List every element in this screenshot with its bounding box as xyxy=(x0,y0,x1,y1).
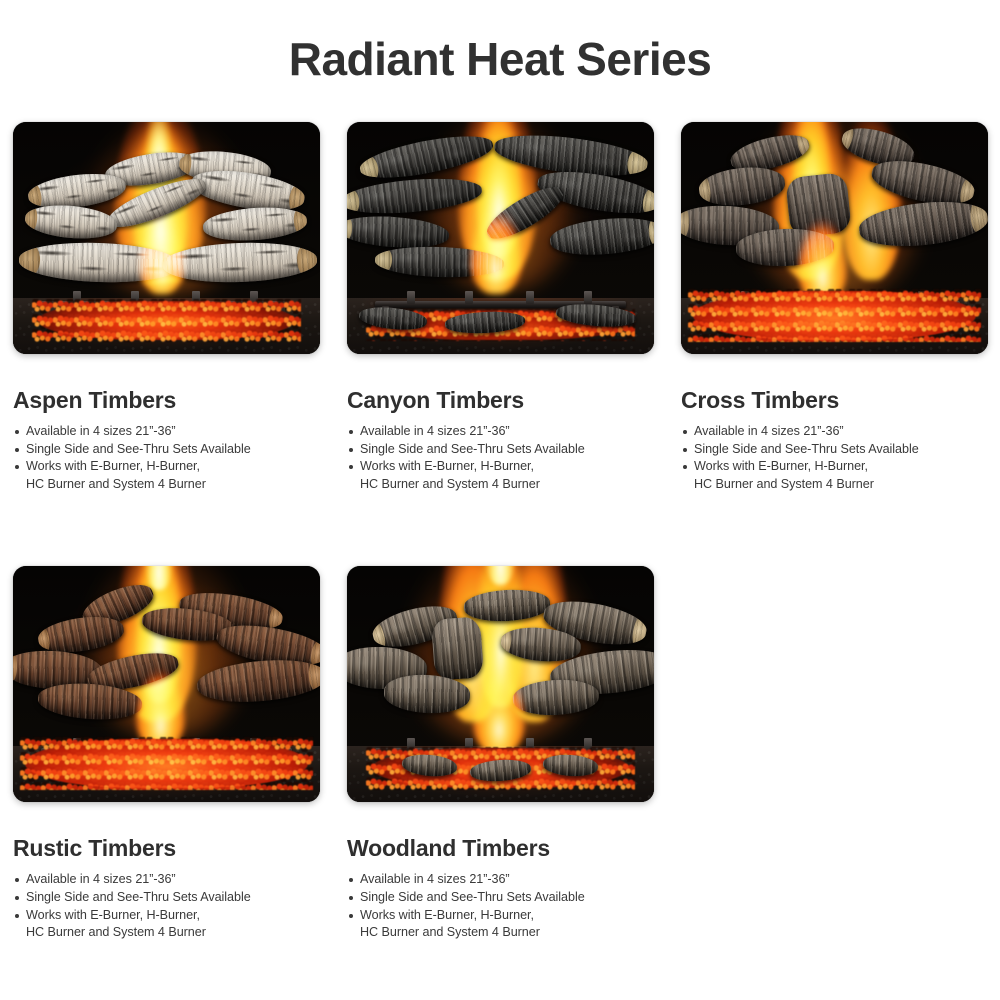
fireplace-scene-rustic xyxy=(13,566,320,802)
feature-item: Works with E-Burner, H-Burner, HC Burner… xyxy=(13,907,320,942)
product-grid-empty-slot xyxy=(681,566,988,941)
product-features-list: Available in 4 sizes 21”-36” Single Side… xyxy=(681,423,988,493)
log-end-cut xyxy=(626,148,649,179)
log-center-vertical-left xyxy=(431,617,484,682)
burner-clip xyxy=(465,291,473,304)
ember-bed xyxy=(38,301,296,340)
log-end-cut xyxy=(499,627,512,656)
product-image-aspen-timbers[interactable] xyxy=(13,122,320,354)
product-title: Rustic Timbers xyxy=(13,834,320,862)
log-front-right xyxy=(163,240,318,285)
product-grid-row-1: Aspen Timbers Available in 4 sizes 21”-3… xyxy=(13,122,988,493)
log-end-cut xyxy=(308,658,320,693)
feature-item: Single Side and See-Thru Sets Available xyxy=(681,441,988,459)
product-grid-row-2: Rustic Timbers Available in 4 sizes 21”-… xyxy=(13,566,988,941)
product-card-canyon-timbers[interactable]: Canyon Timbers Available in 4 sizes 21”-… xyxy=(347,122,654,493)
log-end-cut xyxy=(358,153,380,183)
feature-item: Available in 4 sizes 21”-36” xyxy=(13,423,320,441)
log-end-cut xyxy=(296,243,317,277)
product-card-rustic-timbers[interactable]: Rustic Timbers Available in 4 sizes 21”-… xyxy=(13,566,320,941)
burner-clip xyxy=(584,291,592,304)
feature-item: Available in 4 sizes 21”-36” xyxy=(681,423,988,441)
fireplace-scene-cross xyxy=(681,122,988,354)
page-title: Radiant Heat Series xyxy=(0,28,1000,90)
log-ash-front-mid xyxy=(469,758,532,783)
fireplace-scene-woodland xyxy=(347,566,654,802)
product-title: Canyon Timbers xyxy=(347,386,654,414)
log-end-cut xyxy=(681,206,689,240)
product-features-list: Available in 4 sizes 21”-36” Single Side… xyxy=(13,871,320,941)
product-title: Cross Timbers xyxy=(681,386,988,414)
product-grid: Aspen Timbers Available in 4 sizes 21”-3… xyxy=(13,122,988,942)
feature-item: Single Side and See-Thru Sets Available xyxy=(13,441,320,459)
ember-bed xyxy=(25,739,307,789)
product-card-aspen-timbers[interactable]: Aspen Timbers Available in 4 sizes 21”-3… xyxy=(13,122,320,493)
feature-item: Single Side and See-Thru Sets Available xyxy=(347,441,654,459)
product-image-rustic-timbers[interactable] xyxy=(13,566,320,802)
feature-item: Works with E-Burner, H-Burner, HC Burner… xyxy=(347,907,654,942)
feature-item: Works with E-Burner, H-Burner, HC Burner… xyxy=(347,458,654,493)
feature-item: Available in 4 sizes 21”-36” xyxy=(13,871,320,889)
fireplace-scene-aspen xyxy=(13,122,320,354)
feature-item: Available in 4 sizes 21”-36” xyxy=(347,423,654,441)
feature-item: Single Side and See-Thru Sets Available xyxy=(347,889,654,907)
log-front-left xyxy=(383,673,471,715)
product-card-cross-timbers[interactable]: Cross Timbers Available in 4 sizes 21”-3… xyxy=(681,122,988,493)
log-end-cut xyxy=(13,652,17,684)
feature-item: Single Side and See-Thru Sets Available xyxy=(13,889,320,907)
log-end-cut xyxy=(374,247,392,273)
log-end-cut xyxy=(24,204,38,232)
product-features-list: Available in 4 sizes 21”-36” Single Side… xyxy=(347,423,654,493)
product-title: Aspen Timbers xyxy=(13,386,320,414)
feature-item: Works with E-Burner, H-Burner, HC Burner… xyxy=(13,458,320,493)
product-image-cross-timbers[interactable] xyxy=(681,122,988,354)
feature-item: Works with E-Burner, H-Burner, HC Burner… xyxy=(681,458,988,493)
log-end-cut xyxy=(19,243,41,277)
product-title: Woodland Timbers xyxy=(347,834,654,862)
fireplace-scene-canyon xyxy=(347,122,654,354)
log-end-cut xyxy=(698,175,712,207)
burner-clip xyxy=(407,291,415,304)
log-end-cut xyxy=(641,186,654,218)
log-front-right xyxy=(512,677,600,717)
product-image-canyon-timbers[interactable] xyxy=(347,122,654,354)
product-features-list: Available in 4 sizes 21”-36” Single Side… xyxy=(347,871,654,941)
product-image-woodland-timbers[interactable] xyxy=(347,566,654,802)
log-end-cut xyxy=(347,216,353,242)
log-end-cut xyxy=(647,217,654,247)
feature-item: Available in 4 sizes 21”-36” xyxy=(347,871,654,889)
ember-bed xyxy=(693,291,975,340)
log-ash-front-right xyxy=(543,753,600,778)
radiant-heat-series-page: Radiant Heat Series xyxy=(0,0,1000,1000)
product-features-list: Available in 4 sizes 21”-36” Single Side… xyxy=(13,423,320,493)
log-end-cut xyxy=(347,187,361,216)
product-card-woodland-timbers[interactable]: Woodland Timbers Available in 4 sizes 21… xyxy=(347,566,654,941)
log-end-cut xyxy=(293,207,308,235)
log-end-cut xyxy=(969,200,988,237)
burner-clip xyxy=(526,291,534,304)
